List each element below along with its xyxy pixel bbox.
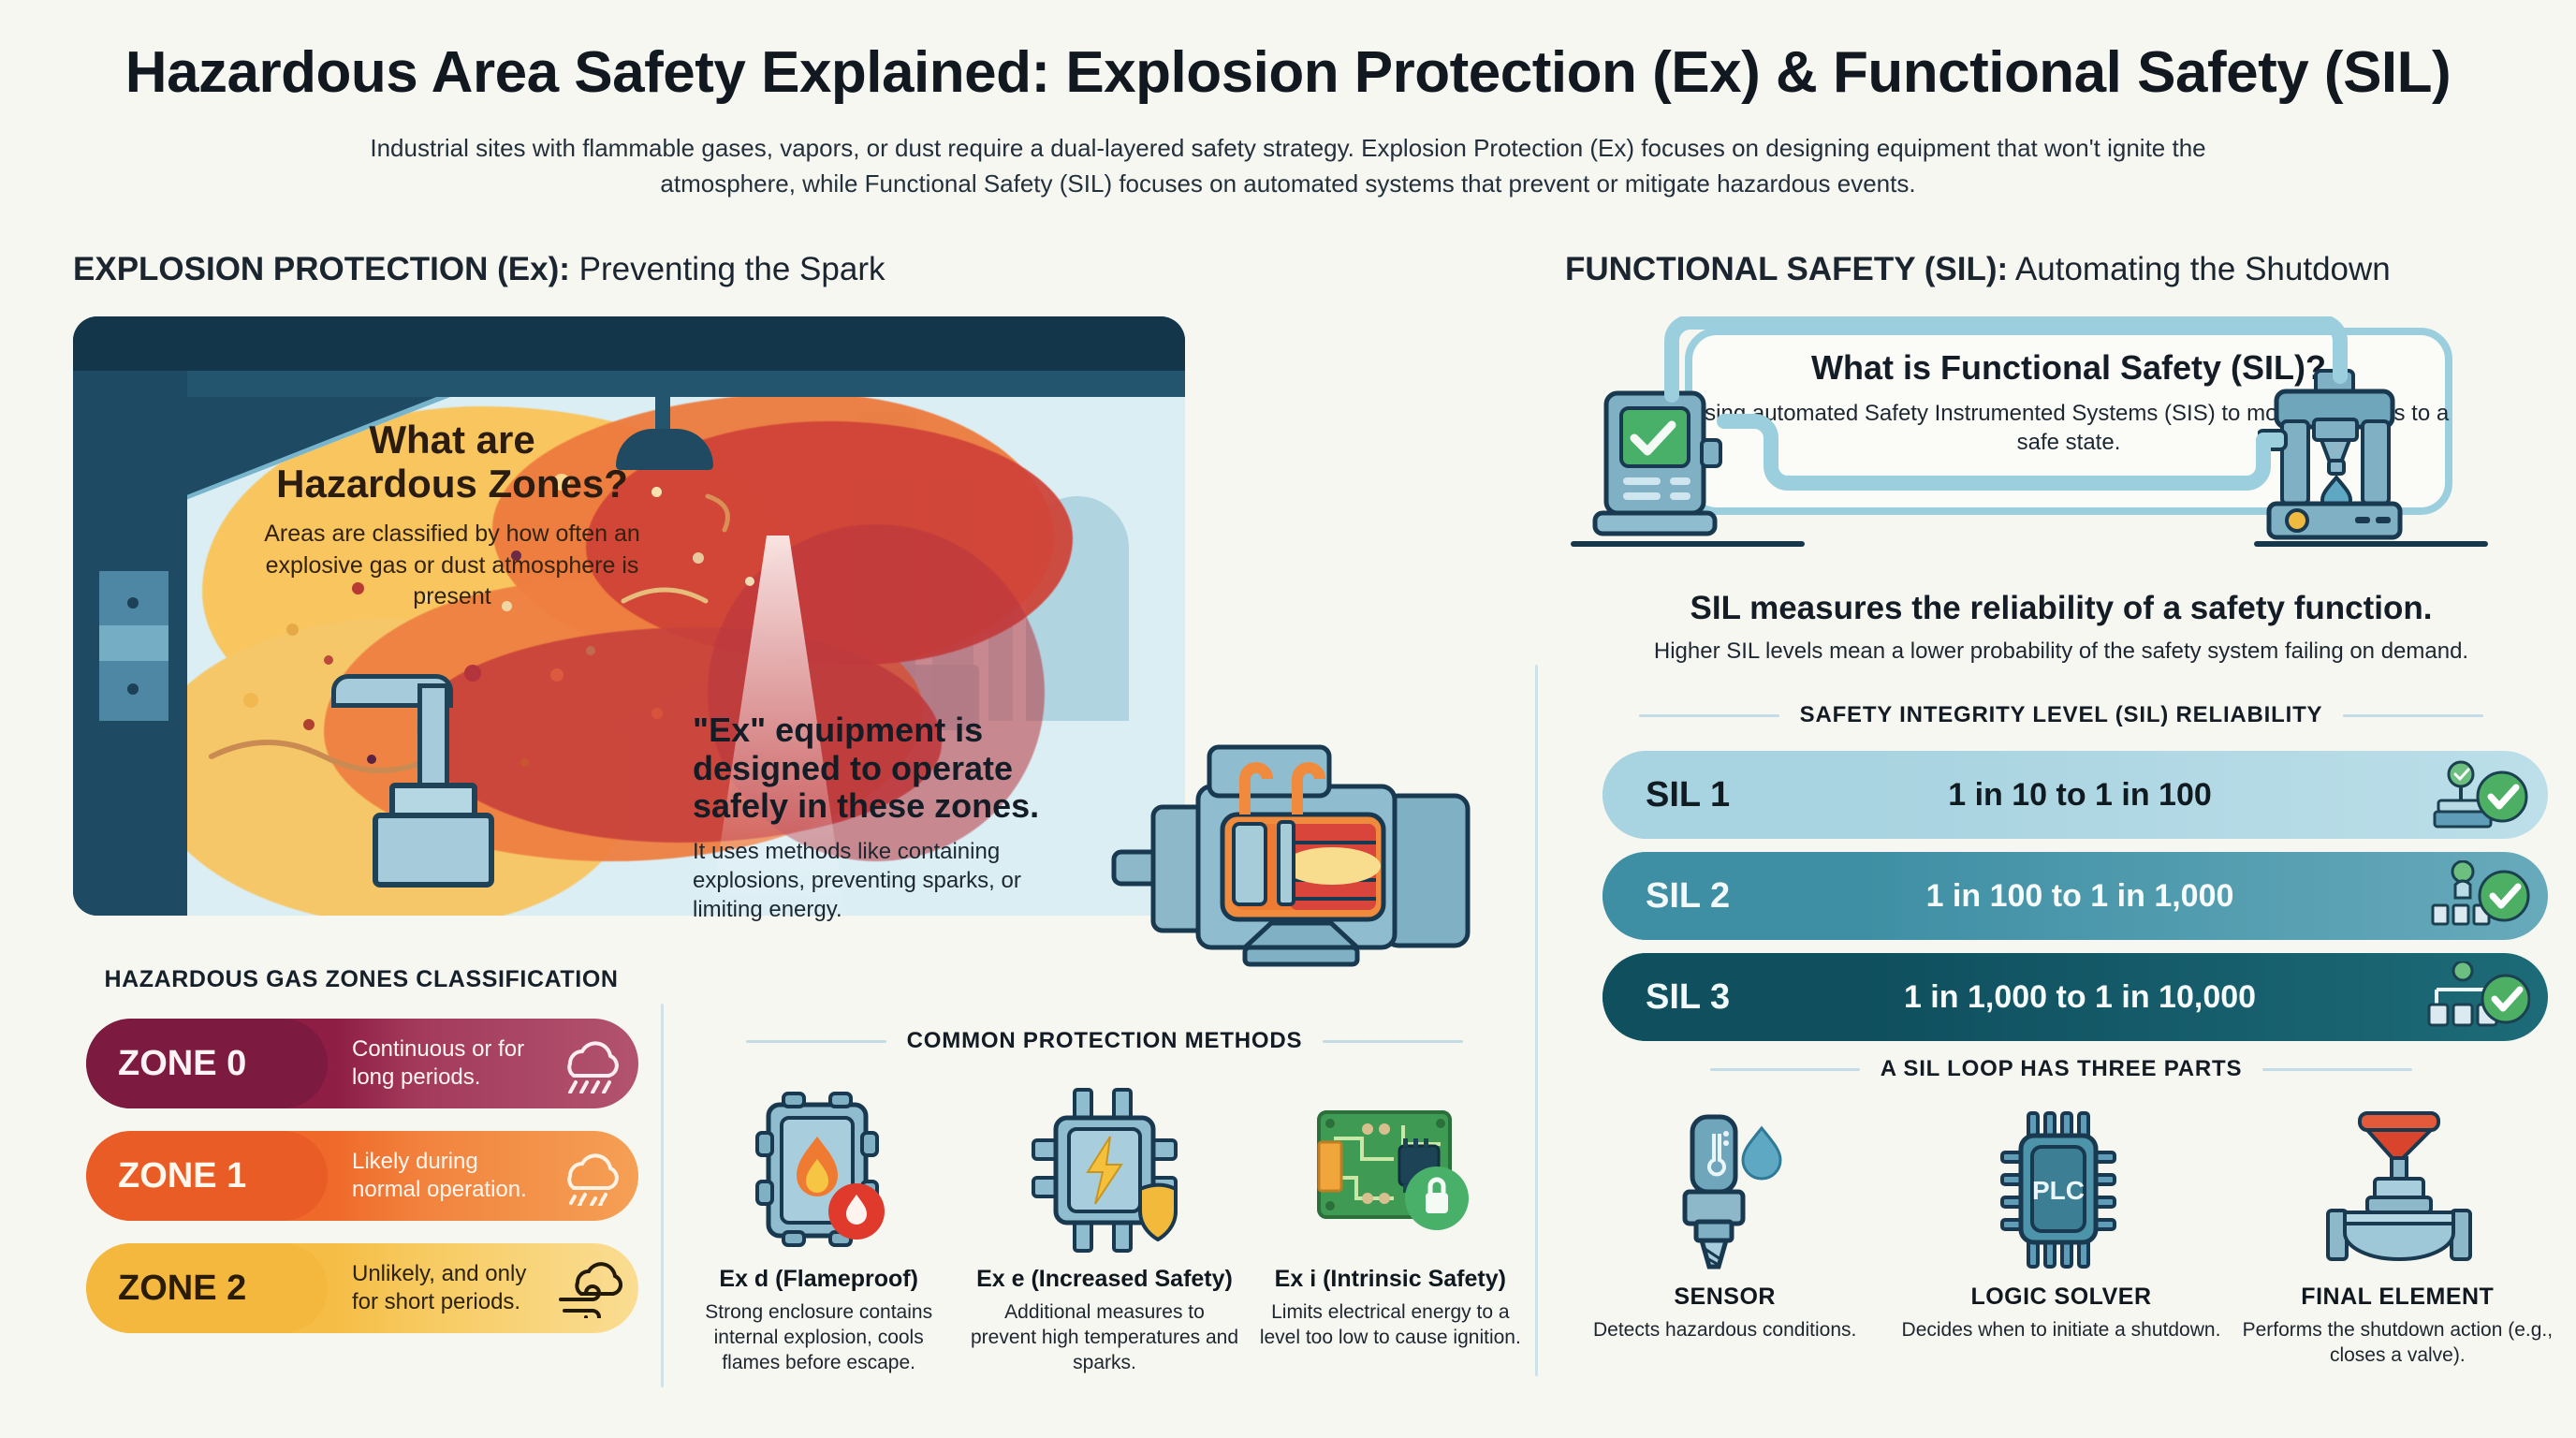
protection-method-title: Ex i (Intrinsic Safety) <box>1255 1266 1526 1293</box>
protection-methods-grid: Ex d (Flameproof) Strong enclosure conta… <box>683 1086 1526 1376</box>
redundancy-check-icon <box>2408 759 2548 830</box>
sil-range-value: 1 in 1,000 to 1 in 10,000 <box>1837 979 2408 1016</box>
gate-valve-icon <box>2238 1107 2557 1270</box>
ex-equipment-heading: "Ex" equipment is designed to operate sa… <box>693 712 1086 826</box>
rule-line-left <box>1639 714 1779 717</box>
sil-row[interactable]: SIL 2 1 in 100 to 1 in 1,000 <box>1603 852 2548 940</box>
ex-section-divider <box>661 1004 664 1387</box>
sil-level-label: SIL 1 <box>1603 751 1837 839</box>
electric-motor-icon <box>1105 721 1507 983</box>
protection-method-item[interactable]: Ex e (Increased Safety) Additional measu… <box>969 1086 1239 1376</box>
zone-row[interactable]: ZONE 2 Unlikely, and only for short peri… <box>86 1243 638 1333</box>
sil-loop-part-desc: Detects hazardous conditions. <box>1565 1318 1884 1343</box>
sil-level-label: SIL 2 <box>1603 852 1837 940</box>
zone-description: Unlikely, and only for short periods. <box>328 1260 537 1316</box>
protection-method-title: Ex d (Flameproof) <box>683 1266 954 1293</box>
page-title: Hazardous Area Safety Explained: Explosi… <box>0 39 2576 106</box>
sil-heading-label: FUNCTIONAL SAFETY (SIL): <box>1565 251 2008 287</box>
protection-methods-title-row: COMMON PROTECTION METHODS <box>693 1028 1516 1054</box>
sil-measure-block: SIL measures the reliability of a safety… <box>1565 590 2557 665</box>
rule-line-right <box>1323 1040 1463 1043</box>
sil-range-value: 1 in 10 to 1 in 100 <box>1837 777 2408 814</box>
hazardous-zones-body: Areas are classified by how often an exp… <box>251 519 653 613</box>
ceiling-beam-lower <box>185 371 1185 397</box>
ex-equipment-card: "Ex" equipment is designed to operate sa… <box>693 712 1086 925</box>
sil-loop-part[interactable]: SENSOR Detects hazardous conditions. <box>1565 1107 1884 1369</box>
sil-measure-body: Higher SIL levels mean a lower probabili… <box>1565 638 2557 665</box>
sis-loop-connectors <box>1554 316 2574 550</box>
protection-method-desc: Strong enclosure contains internal explo… <box>683 1300 954 1376</box>
protection-method-desc: Additional measures to prevent high temp… <box>969 1300 1239 1376</box>
sil-loop-part-desc: Performs the shutdown action (e.g., clos… <box>2238 1318 2557 1369</box>
temperature-sensor-icon <box>1565 1107 1884 1270</box>
enclosure-flame-icon <box>683 1086 954 1255</box>
section-heading-functional-safety: FUNCTIONAL SAFETY (SIL): Automating the … <box>1565 251 2391 288</box>
junction-box-bolt-icon <box>969 1086 1239 1255</box>
protection-method-item[interactable]: Ex d (Flameproof) Strong enclosure conta… <box>683 1086 954 1376</box>
cloud-drizzle-icon <box>537 1146 638 1206</box>
sil-loop-grid: SENSOR Detects hazardous conditions. <box>1565 1107 2557 1369</box>
ground-line-left <box>1571 541 1805 547</box>
column-divider <box>1535 665 1538 1376</box>
section-heading-explosion-protection: EXPLOSION PROTECTION (Ex): Preventing th… <box>73 251 885 288</box>
rule-line-left <box>1710 1068 1860 1071</box>
plc-chip-icon: PLC <box>1901 1107 2220 1270</box>
zone-description: Likely during normal operation. <box>328 1148 537 1204</box>
ex-heading-label: EXPLOSION PROTECTION (Ex): <box>73 251 570 287</box>
wall-bolt <box>127 683 139 695</box>
rule-line-left <box>746 1040 886 1043</box>
wall-plate-band <box>99 625 168 661</box>
protection-method-desc: Limits electrical energy to a level too … <box>1255 1300 1526 1351</box>
page-subtitle: Industrial sites with flammable gases, v… <box>305 131 2271 201</box>
protection-method-title: Ex e (Increased Safety) <box>969 1266 1239 1293</box>
zone-row[interactable]: ZONE 1 Likely during normal operation. <box>86 1131 638 1221</box>
rule-line-right <box>2343 714 2483 717</box>
zone-label: ZONE 1 <box>86 1131 328 1221</box>
zone-row[interactable]: ZONE 0 Continuous or for long periods. <box>86 1019 638 1108</box>
sil-loop-title-row: A SIL LOOP HAS THREE PARTS <box>1565 1056 2557 1082</box>
cloud-wind-icon <box>537 1258 638 1318</box>
infographic-page: Hazardous Area Safety Explained: Explosi… <box>0 0 2576 1438</box>
sil-row[interactable]: SIL 3 1 in 1,000 to 1 in 10,000 <box>1603 953 2548 1041</box>
sil-level-label: SIL 3 <box>1603 953 1837 1041</box>
sil-reliability-title: SAFETY INTEGRITY LEVEL (SIL) RELIABILITY <box>1800 702 2323 728</box>
sil-heading-tagline: Automating the Shutdown <box>2008 251 2391 287</box>
zone-description: Continuous or for long periods. <box>328 1035 537 1092</box>
hazardous-zones-callout: What are Hazardous Zones? Areas are clas… <box>251 418 653 613</box>
sil-loop-part-desc: Decides when to initiate a shutdown. <box>1901 1318 2220 1343</box>
circuit-board-lock-icon <box>1255 1086 1526 1255</box>
sil-reliability-title-row: SAFETY INTEGRITY LEVEL (SIL) RELIABILITY <box>1565 702 2557 728</box>
zone-label: ZONE 2 <box>86 1243 328 1333</box>
ex-heading-tagline: Preventing the Spark <box>570 251 885 287</box>
sil-loop-title: A SIL LOOP HAS THREE PARTS <box>1881 1056 2243 1082</box>
plc-chip-label: PLC <box>2032 1176 2085 1205</box>
sil-measure-heading: SIL measures the reliability of a safety… <box>1565 590 2557 627</box>
pipe-downcomer <box>417 683 449 796</box>
redundancy-check-icon <box>2408 961 2548 1033</box>
sil-range-value: 1 in 100 to 1 in 1,000 <box>1837 878 2408 915</box>
rule-line-right <box>2262 1068 2412 1071</box>
ceiling-beam <box>73 316 1185 371</box>
sil-loop-part[interactable]: PLC LOGIC SOLVER Decides when to initiat… <box>1901 1107 2220 1369</box>
protection-methods-title: COMMON PROTECTION METHODS <box>907 1028 1303 1054</box>
sil-loop-part-title: FINAL ELEMENT <box>2238 1284 2557 1311</box>
protection-method-item[interactable]: Ex i (Intrinsic Safety) Limits electrica… <box>1255 1086 1526 1376</box>
sil-row[interactable]: SIL 1 1 in 10 to 1 in 100 <box>1603 751 2548 839</box>
wall-bolt <box>127 597 139 609</box>
ex-equipment-body: It uses methods like containing explosio… <box>693 837 1086 925</box>
sil-loop-part-title: SENSOR <box>1565 1284 1884 1311</box>
ground-line-right <box>2254 541 2488 547</box>
valve-body <box>373 813 494 888</box>
zones-section-title: HAZARDOUS GAS ZONES CLASSIFICATION <box>73 966 650 993</box>
sil-loop-part[interactable]: FINAL ELEMENT Performs the shutdown acti… <box>2238 1107 2557 1369</box>
zone-label: ZONE 0 <box>86 1019 328 1108</box>
redundancy-check-icon <box>2408 860 2548 932</box>
sil-loop-part-title: LOGIC SOLVER <box>1901 1284 2220 1311</box>
cloud-rain-heavy-icon <box>537 1034 638 1093</box>
hazardous-zones-heading-line2: Hazardous Zones? <box>251 462 653 506</box>
hazardous-zones-heading-line1: What are <box>251 418 653 462</box>
